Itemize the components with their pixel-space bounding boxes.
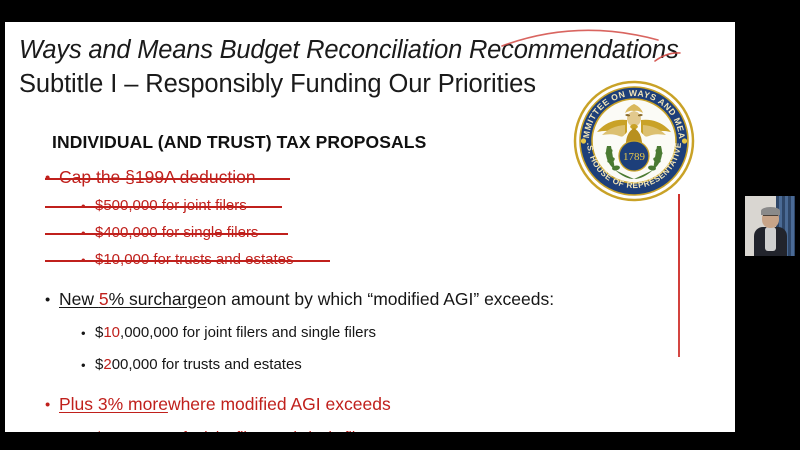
bullet-list: Cap the §199A deduction $500,000 for joi… bbox=[45, 165, 685, 432]
bullet-cap-sub-single-text: $400,000 for single filers bbox=[95, 225, 258, 240]
bullet-surcharge-lead-pre: New bbox=[59, 289, 99, 309]
seal-year: 1789 bbox=[623, 151, 646, 163]
bullet-surcharge-sub-joint-rest: ,000,000 for joint filers and single fil… bbox=[120, 325, 376, 340]
bullet-surcharge-sub-trusts-red: 2 bbox=[103, 357, 111, 372]
bullet-plus-sub-joint: $25,000,000 for joint filers and single … bbox=[45, 426, 685, 432]
slide-title-line-1: Ways and Means Budget Reconciliation Rec… bbox=[19, 36, 679, 65]
bullet-surcharge: New 5% surcharge on amount by which “mod… bbox=[45, 287, 685, 312]
bullet-surcharge-sub-trusts: $200,000 for trusts and estates bbox=[45, 353, 685, 376]
webcam-thumbnail[interactable] bbox=[745, 196, 795, 256]
bullet-cap-sub-joint-text: $500,000 for joint filers bbox=[95, 198, 247, 213]
bullet-surcharge-rate: 5 bbox=[99, 289, 109, 309]
bullet-surcharge-lead-post: % surcharge bbox=[109, 289, 207, 309]
bullet-plus-three-percent: Plus 3% more where modified AGI exceeds bbox=[45, 392, 685, 417]
bullet-surcharge-sub-joint: $10,000,000 for joint filers and single … bbox=[45, 321, 685, 344]
section-heading: INDIVIDUAL (AND TRUST) TAX PROPOSALS bbox=[52, 132, 426, 153]
webcam-person-glasses bbox=[763, 215, 778, 219]
webcam-person-shirt bbox=[765, 227, 776, 251]
bullet-plus-rest: where modified AGI exceeds bbox=[168, 396, 391, 414]
webcam-person-hair bbox=[761, 207, 780, 215]
bullet-cap-sub-trusts: $10,000 for trusts and estates bbox=[45, 248, 685, 271]
bullet-cap-sub-trusts-text: $10,000 for trusts and estates bbox=[95, 252, 293, 267]
bullet-surcharge-sub-joint-red: 10 bbox=[103, 325, 120, 340]
slide-title-line-2: Subtitle I – Responsibly Funding Our Pri… bbox=[19, 70, 536, 99]
bullet-plus-sub-joint-text: $25,000,000 for joint filers and single … bbox=[95, 430, 376, 432]
bullet-cap-sub-single: $400,000 for single filers bbox=[45, 221, 685, 244]
bullet-surcharge-sub-trusts-rest: 00,000 for trusts and estates bbox=[112, 357, 302, 372]
bullet-surcharge-sub-joint-prefix: $ bbox=[95, 325, 103, 340]
slide-canvas: Ways and Means Budget Reconciliation Rec… bbox=[5, 22, 735, 432]
committee-seal-logo: COMMITTEE ON WAYS AND MEANS U.S. HOUSE O… bbox=[573, 80, 695, 202]
bullet-surcharge-lead: New 5% surcharge bbox=[59, 291, 207, 309]
bullet-plus-lead: Plus 3% more bbox=[59, 396, 168, 414]
bullet-surcharge-sub-trusts-prefix: $ bbox=[95, 357, 103, 372]
presentation-screen: Ways and Means Budget Reconciliation Rec… bbox=[0, 0, 800, 450]
bullet-surcharge-rest: on amount by which “modified AGI” exceed… bbox=[207, 291, 554, 309]
bullet-cap-deduction-text: Cap the §199A deduction bbox=[59, 169, 256, 187]
